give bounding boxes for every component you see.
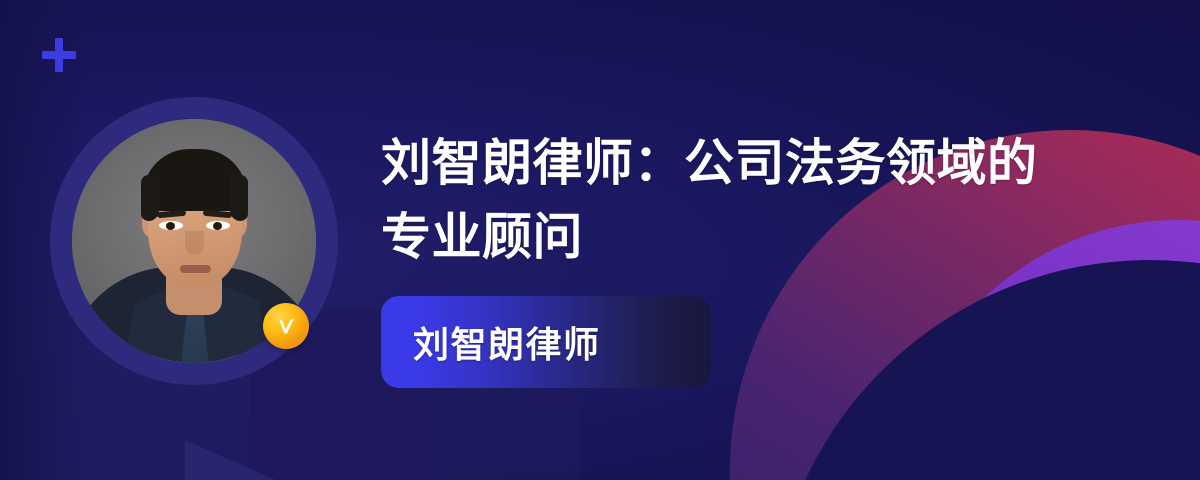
decor-triangle (185, 440, 705, 480)
portrait-mouth (180, 265, 211, 273)
lawyer-profile-banner: 刘智朗律师：公司法务领域的专业顾问 刘智朗律师 (0, 0, 1200, 480)
decor-arc-mask (770, 260, 1200, 480)
avatar (50, 97, 338, 385)
portrait-hair-side-right (230, 175, 248, 221)
lawyer-name-cta-button[interactable]: 刘智朗律师 (381, 296, 711, 388)
plus-icon (41, 37, 77, 73)
portrait-nose (185, 231, 204, 255)
portrait-pupil-right (213, 222, 222, 230)
verified-v-badge-icon (263, 303, 309, 349)
page-title: 刘智朗律师：公司法务领域的专业顾问 (381, 126, 1081, 274)
portrait-pupil-left (166, 222, 175, 230)
